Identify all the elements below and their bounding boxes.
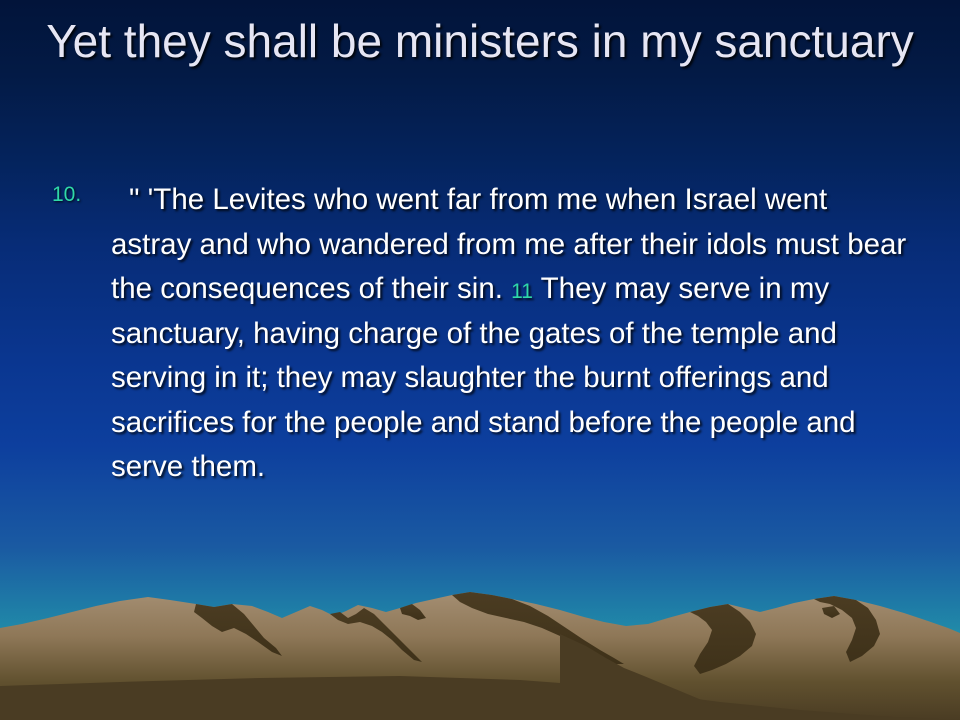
- slide-body: 10. " 'The Levites who went far from me …: [48, 178, 908, 490]
- mountain-range-silhouette: [0, 590, 960, 720]
- list-marker: 10.: [52, 184, 81, 205]
- presentation-slide: Yet they shall be ministers in my sanctu…: [0, 0, 960, 720]
- slide-title: Yet they shall be ministers in my sanctu…: [36, 16, 924, 68]
- list-item: 10. " 'The Levites who went far from me …: [48, 178, 908, 490]
- scripture-text: " 'The Levites who went far from me when…: [111, 178, 908, 490]
- verse-number: 11: [511, 280, 533, 303]
